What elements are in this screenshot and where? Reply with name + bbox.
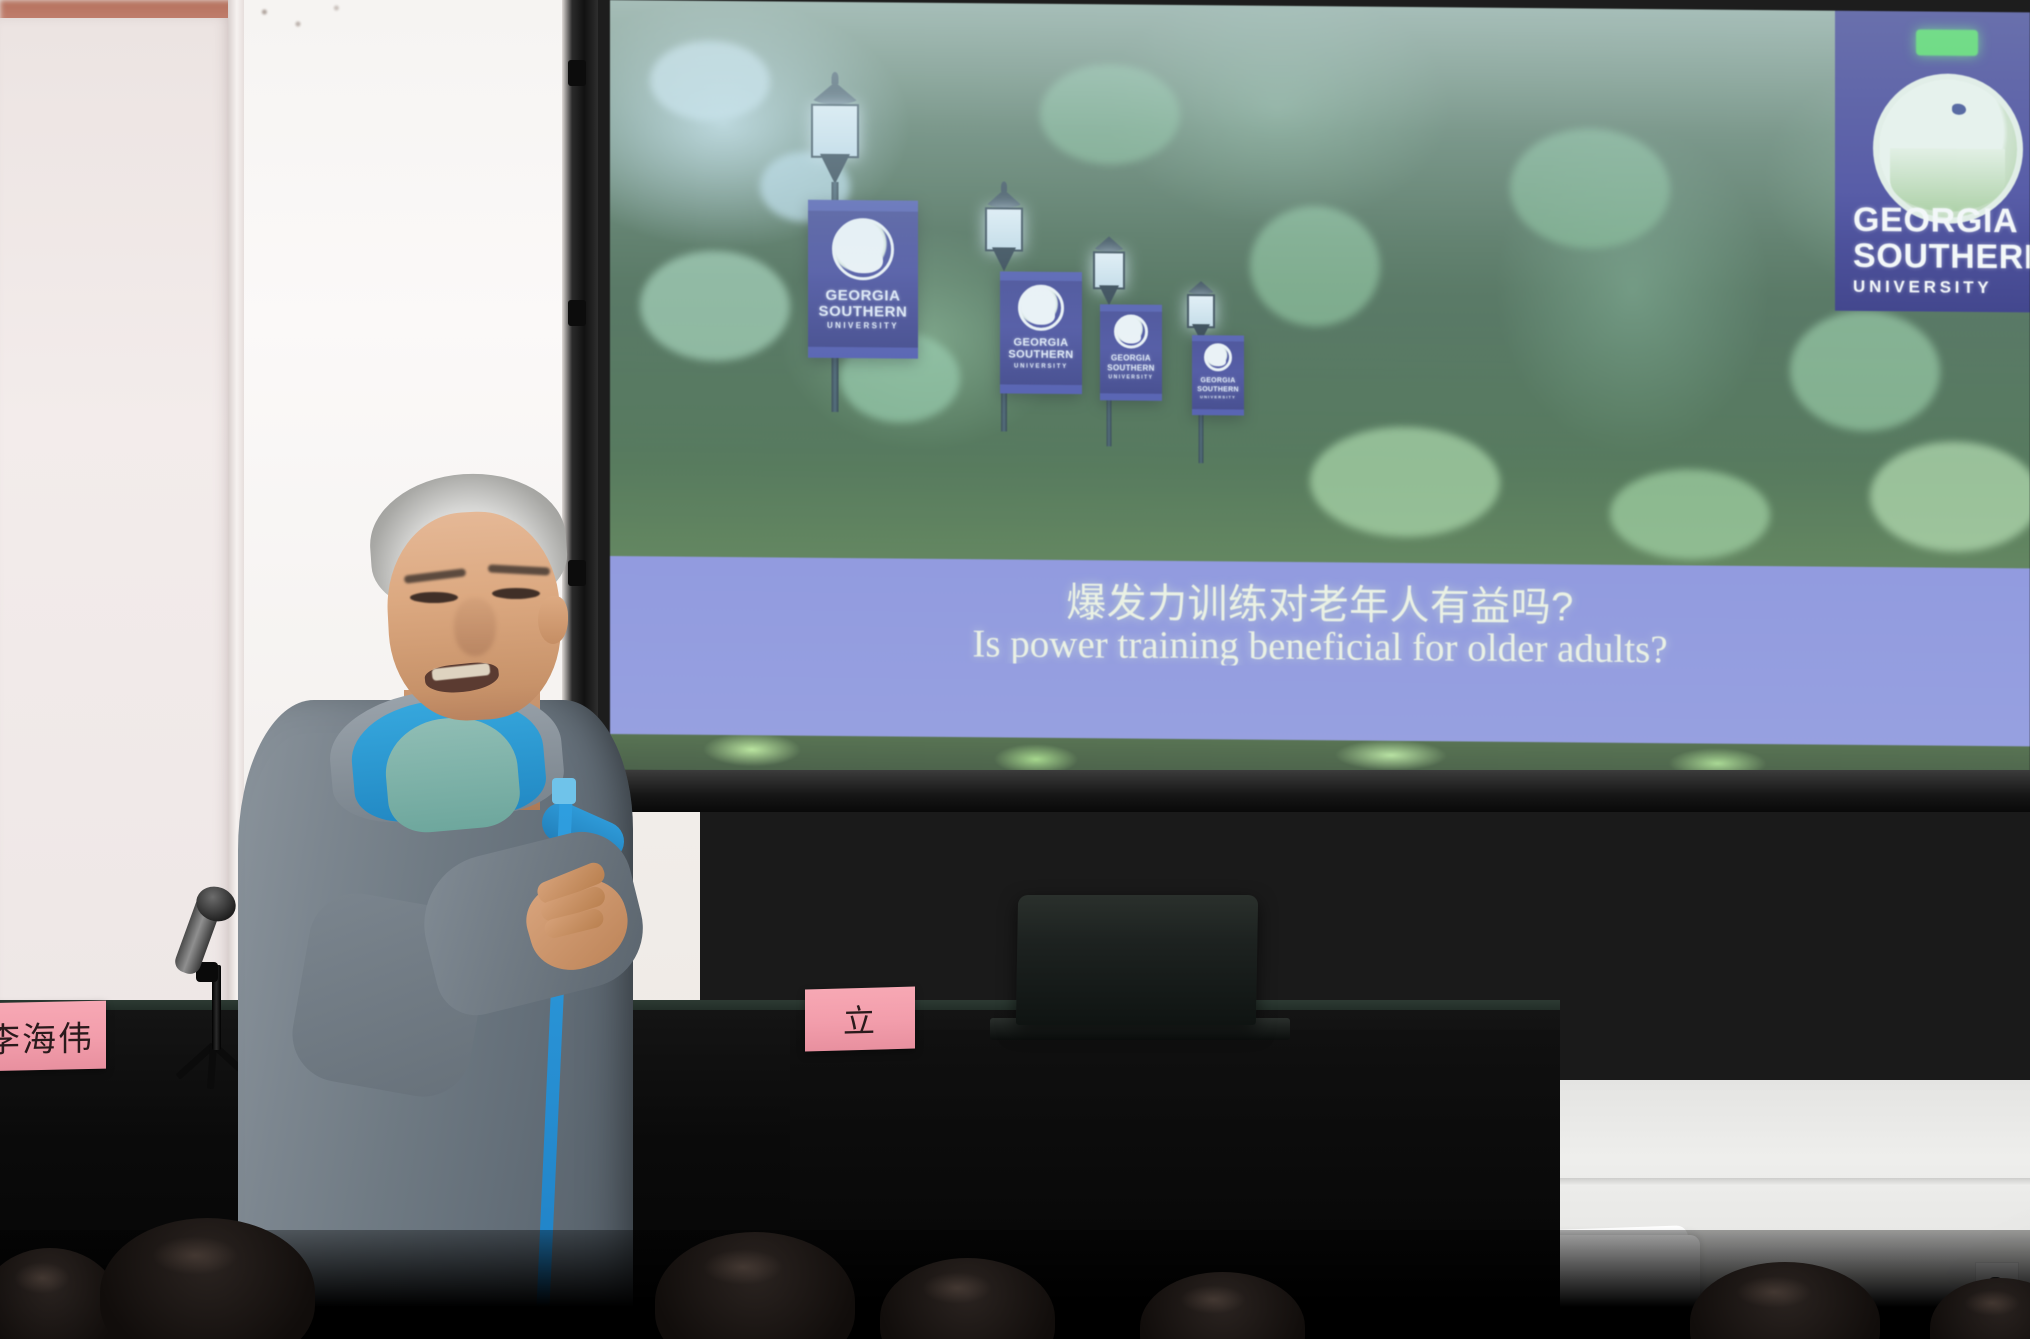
logo-line1: GEORGIA bbox=[1835, 201, 2030, 242]
logo-line3: UNIVERSITY bbox=[1835, 277, 2030, 299]
name-placard-left: 李海伟 bbox=[0, 1001, 106, 1072]
laptop[interactable] bbox=[1016, 895, 1258, 1025]
wall-panel-left bbox=[0, 18, 228, 1028]
speaker-eye bbox=[492, 588, 540, 599]
green-highlight bbox=[1916, 29, 1978, 56]
wall-seam-lower bbox=[1540, 1178, 2030, 1186]
georgia-southern-logo: GEORGIA SOUTHERN UNIVERSITY bbox=[1835, 11, 2030, 313]
speaker-ear bbox=[538, 596, 568, 644]
logo-line2: SOUTHERN bbox=[1835, 237, 2030, 278]
screen-rail-clip bbox=[568, 560, 586, 586]
lecture-photo-scene: GEORGIA SOUTHERN UNIVERSITY GEORGIA SOUT… bbox=[0, 0, 2030, 1339]
screen-rail-clip bbox=[568, 300, 586, 326]
projection-haze bbox=[610, 0, 2030, 572]
speaker-eye bbox=[410, 592, 458, 603]
name-placard-right: 立 bbox=[805, 987, 915, 1052]
eagle-beak-icon bbox=[1952, 104, 1966, 115]
wall-blemish bbox=[250, 0, 370, 40]
speaker-nose bbox=[454, 598, 496, 656]
screen-side-rail bbox=[562, 0, 598, 788]
jacket-zipper-pull bbox=[552, 778, 576, 804]
projection-screen: GEORGIA SOUTHERN UNIVERSITY GEORGIA SOUT… bbox=[610, 0, 2030, 782]
screen-bottom-bar bbox=[598, 770, 2030, 812]
screen-rail-clip bbox=[568, 60, 586, 86]
